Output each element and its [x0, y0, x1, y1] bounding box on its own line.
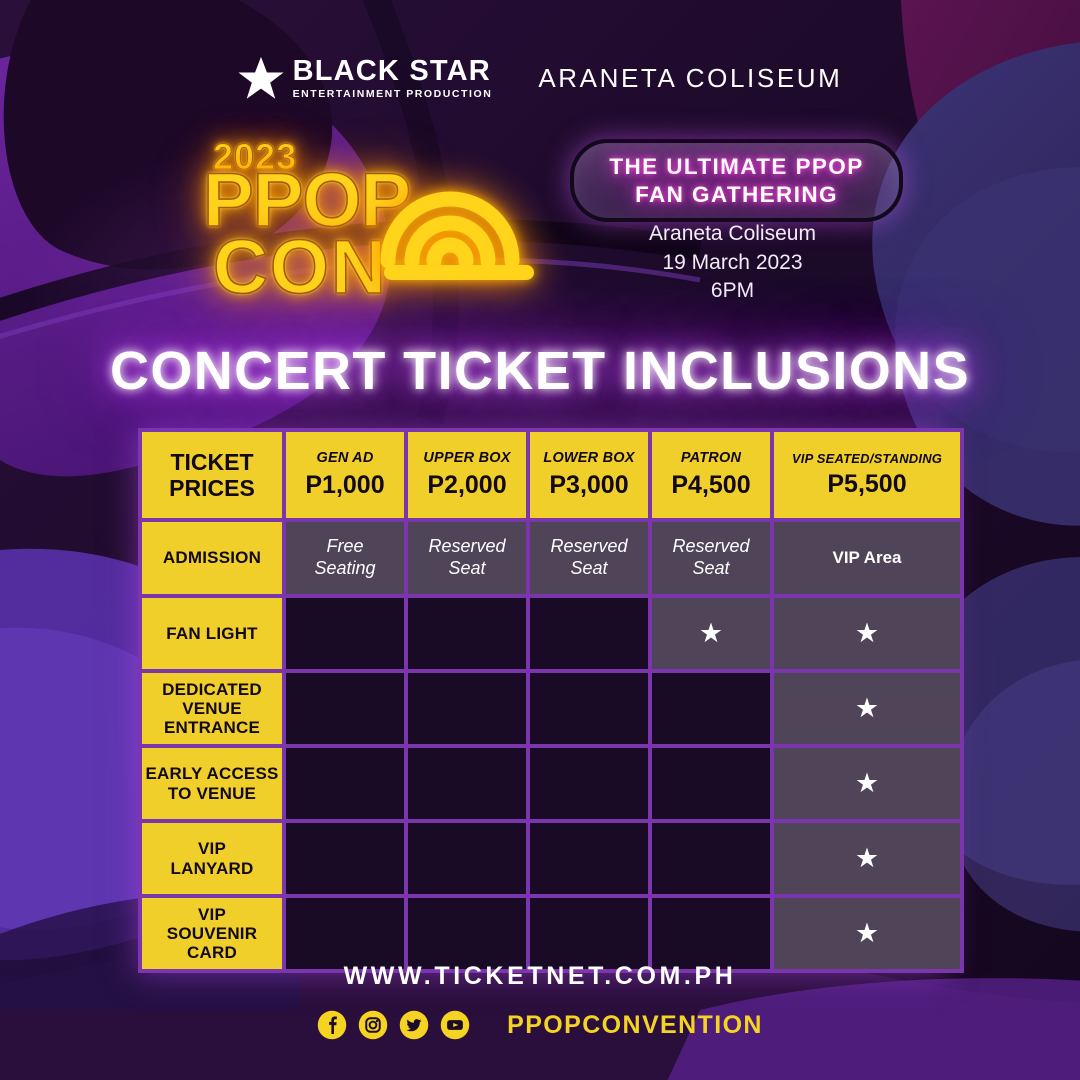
- youtube-icon[interactable]: [440, 1010, 470, 1040]
- row-label: EARLY ACCESSTO VENUE: [142, 748, 282, 819]
- star-icon: ★: [855, 693, 879, 723]
- cell-included: ★: [774, 598, 960, 669]
- event-details: Araneta Coliseum 19 March 2023 6PM: [570, 220, 895, 306]
- column-price: P1,000: [288, 470, 402, 500]
- table-row: VIPLANYARD★: [142, 823, 960, 894]
- arch-icon: [370, 133, 550, 298]
- header-logos: BLACK STAR ENTERTAINMENT PRODUCTION ARAN…: [0, 48, 1080, 108]
- cell-empty: [408, 598, 526, 669]
- cell-empty: [530, 823, 648, 894]
- column-category: UPPER BOX: [410, 450, 524, 467]
- ppopcon-logo: 2023 PPOP CON: [195, 128, 545, 303]
- cell-empty: [652, 673, 770, 744]
- cell-empty: [652, 748, 770, 819]
- row-label: VIPLANYARD: [142, 823, 282, 894]
- row-label: DEDICATEDVENUEENTRANCE: [142, 673, 282, 744]
- cell-included: ★: [652, 598, 770, 669]
- column-price: P5,500: [776, 469, 958, 499]
- cell-empty: [408, 898, 526, 969]
- logo-con: CON: [213, 233, 388, 303]
- inclusions-table: TICKETPRICESGEN ADP1,000UPPER BOXP2,000L…: [138, 428, 946, 973]
- row-label: VIPSOUVENIRCARD: [142, 898, 282, 969]
- cell-empty: [286, 898, 404, 969]
- cell-empty: [408, 673, 526, 744]
- header-corner-label: TICKETPRICES: [142, 432, 282, 518]
- araneta-coliseum-logo: ARANETA COLISEUM: [538, 63, 842, 94]
- star-icon: ★: [855, 843, 879, 873]
- cell-empty: [286, 673, 404, 744]
- column-category: VIP SEATED/STANDING: [776, 451, 958, 467]
- cell-included: ★: [774, 748, 960, 819]
- cell-empty: [286, 823, 404, 894]
- star-icon: ★: [855, 918, 879, 948]
- cell-text: ReservedSeat: [408, 522, 526, 594]
- column-category: LOWER BOX: [532, 450, 646, 467]
- cell-empty: [408, 823, 526, 894]
- table-header-row: TICKETPRICESGEN ADP1,000UPPER BOXP2,000L…: [142, 432, 960, 518]
- cell-included: ★: [774, 673, 960, 744]
- star-icon: [238, 55, 284, 101]
- instagram-icon[interactable]: [358, 1010, 388, 1040]
- column-category: PATRON: [654, 450, 768, 467]
- table-row: VIPSOUVENIRCARD★: [142, 898, 960, 969]
- table-row: FAN LIGHT★★: [142, 598, 960, 669]
- column-price: P4,500: [654, 470, 768, 500]
- row-label: ADMISSION: [142, 522, 282, 594]
- badge-line-2: FAN GATHERING: [635, 181, 838, 208]
- column-header-1: GEN ADP1,000: [286, 432, 404, 518]
- cell-empty: [530, 673, 648, 744]
- column-header-2: UPPER BOXP2,000: [408, 432, 526, 518]
- black-star-tagline: ENTERTAINMENT PRODUCTION: [293, 89, 493, 100]
- cell-empty: [408, 748, 526, 819]
- cell-empty: [286, 598, 404, 669]
- cell-empty: [530, 598, 648, 669]
- column-header-3: LOWER BOXP3,000: [530, 432, 648, 518]
- black-star-logo: BLACK STAR ENTERTAINMENT PRODUCTION: [238, 55, 493, 101]
- social-handle[interactable]: PPOPCONVENTION: [507, 1011, 763, 1040]
- column-price: P2,000: [410, 470, 524, 500]
- black-star-name: BLACK STAR: [293, 57, 493, 86]
- badge-line-1: THE ULTIMATE PPOP: [609, 153, 863, 180]
- star-icon: ★: [699, 618, 723, 648]
- cell-empty: [530, 898, 648, 969]
- cell-empty: [652, 823, 770, 894]
- cell-text: ReservedSeat: [530, 522, 648, 594]
- column-price: P3,000: [532, 470, 646, 500]
- row-label: FAN LIGHT: [142, 598, 282, 669]
- column-category: GEN AD: [288, 450, 402, 467]
- facebook-icon[interactable]: [317, 1010, 347, 1040]
- column-header-5: VIP SEATED/STANDINGP5,500: [774, 432, 960, 518]
- column-header-4: PATRONP4,500: [652, 432, 770, 518]
- cell-text: VIP Area: [774, 522, 960, 594]
- cell-text: FreeSeating: [286, 522, 404, 594]
- cell-empty: [286, 748, 404, 819]
- cell-empty: [652, 898, 770, 969]
- cell-text: ReservedSeat: [652, 522, 770, 594]
- star-icon: ★: [855, 618, 879, 648]
- cell-empty: [530, 748, 648, 819]
- star-icon: ★: [855, 768, 879, 798]
- event-badge: THE ULTIMATE PPOP FAN GATHERING: [570, 139, 903, 222]
- website-url[interactable]: WWW.TICKETNET.COM.PH: [0, 962, 1080, 991]
- page-title: CONCERT TICKET INCLUSIONS: [0, 340, 1080, 402]
- event-time: 6PM: [570, 277, 895, 306]
- table-row: ADMISSIONFreeSeatingReservedSeatReserved…: [142, 522, 960, 594]
- event-venue: Araneta Coliseum: [570, 220, 895, 249]
- cell-included: ★: [774, 898, 960, 969]
- event-date: 19 March 2023: [570, 249, 895, 278]
- cell-included: ★: [774, 823, 960, 894]
- twitter-icon[interactable]: [399, 1010, 429, 1040]
- table-row: EARLY ACCESSTO VENUE★: [142, 748, 960, 819]
- poster: BLACK STAR ENTERTAINMENT PRODUCTION ARAN…: [0, 0, 1080, 1080]
- ticket-inclusions-grid: TICKETPRICESGEN ADP1,000UPPER BOXP2,000L…: [138, 428, 964, 973]
- social-row: PPOPCONVENTION: [0, 1010, 1080, 1040]
- table-row: DEDICATEDVENUEENTRANCE★: [142, 673, 960, 744]
